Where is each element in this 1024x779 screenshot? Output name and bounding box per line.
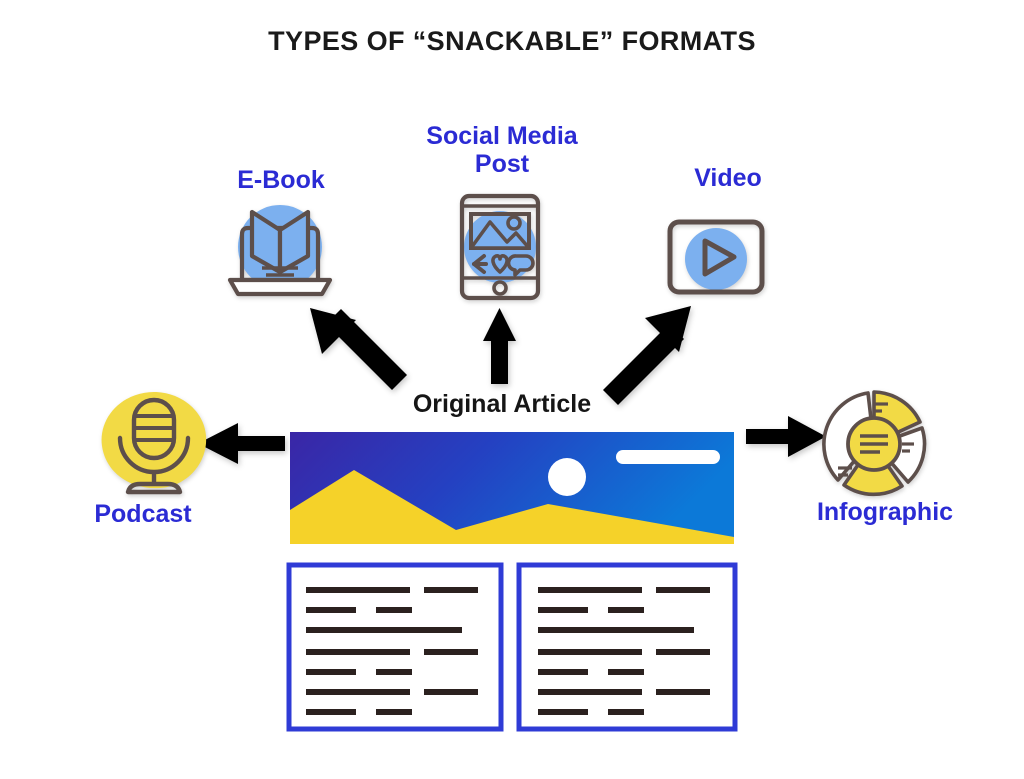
social-media-phone-icon — [452, 192, 548, 302]
article-text-block-left — [286, 562, 504, 732]
original-article-label: Original Article — [332, 390, 672, 419]
article-text-block-right — [516, 562, 738, 732]
node-label-video: Video — [648, 164, 808, 192]
arrow-to-social-media-post — [483, 308, 516, 384]
node-label-social-media-post-line2: Post — [396, 150, 608, 178]
node-label-podcast: Podcast — [58, 500, 228, 528]
infographic-donut-chart-icon — [816, 386, 932, 502]
node-label-infographic: Infographic — [780, 498, 990, 526]
node-label-ebook: E-Book — [196, 166, 366, 194]
arrow-to-ebook — [310, 308, 407, 390]
ebook-laptop-icon — [222, 192, 338, 302]
node-label-social-media-post: Social Media Post — [396, 122, 608, 178]
podcast-microphone-icon — [96, 388, 212, 500]
article-hero-image — [290, 432, 734, 544]
node-label-social-media-post-line1: Social Media — [396, 122, 608, 150]
video-player-icon — [664, 216, 768, 298]
arrow-to-infographic — [746, 416, 826, 457]
